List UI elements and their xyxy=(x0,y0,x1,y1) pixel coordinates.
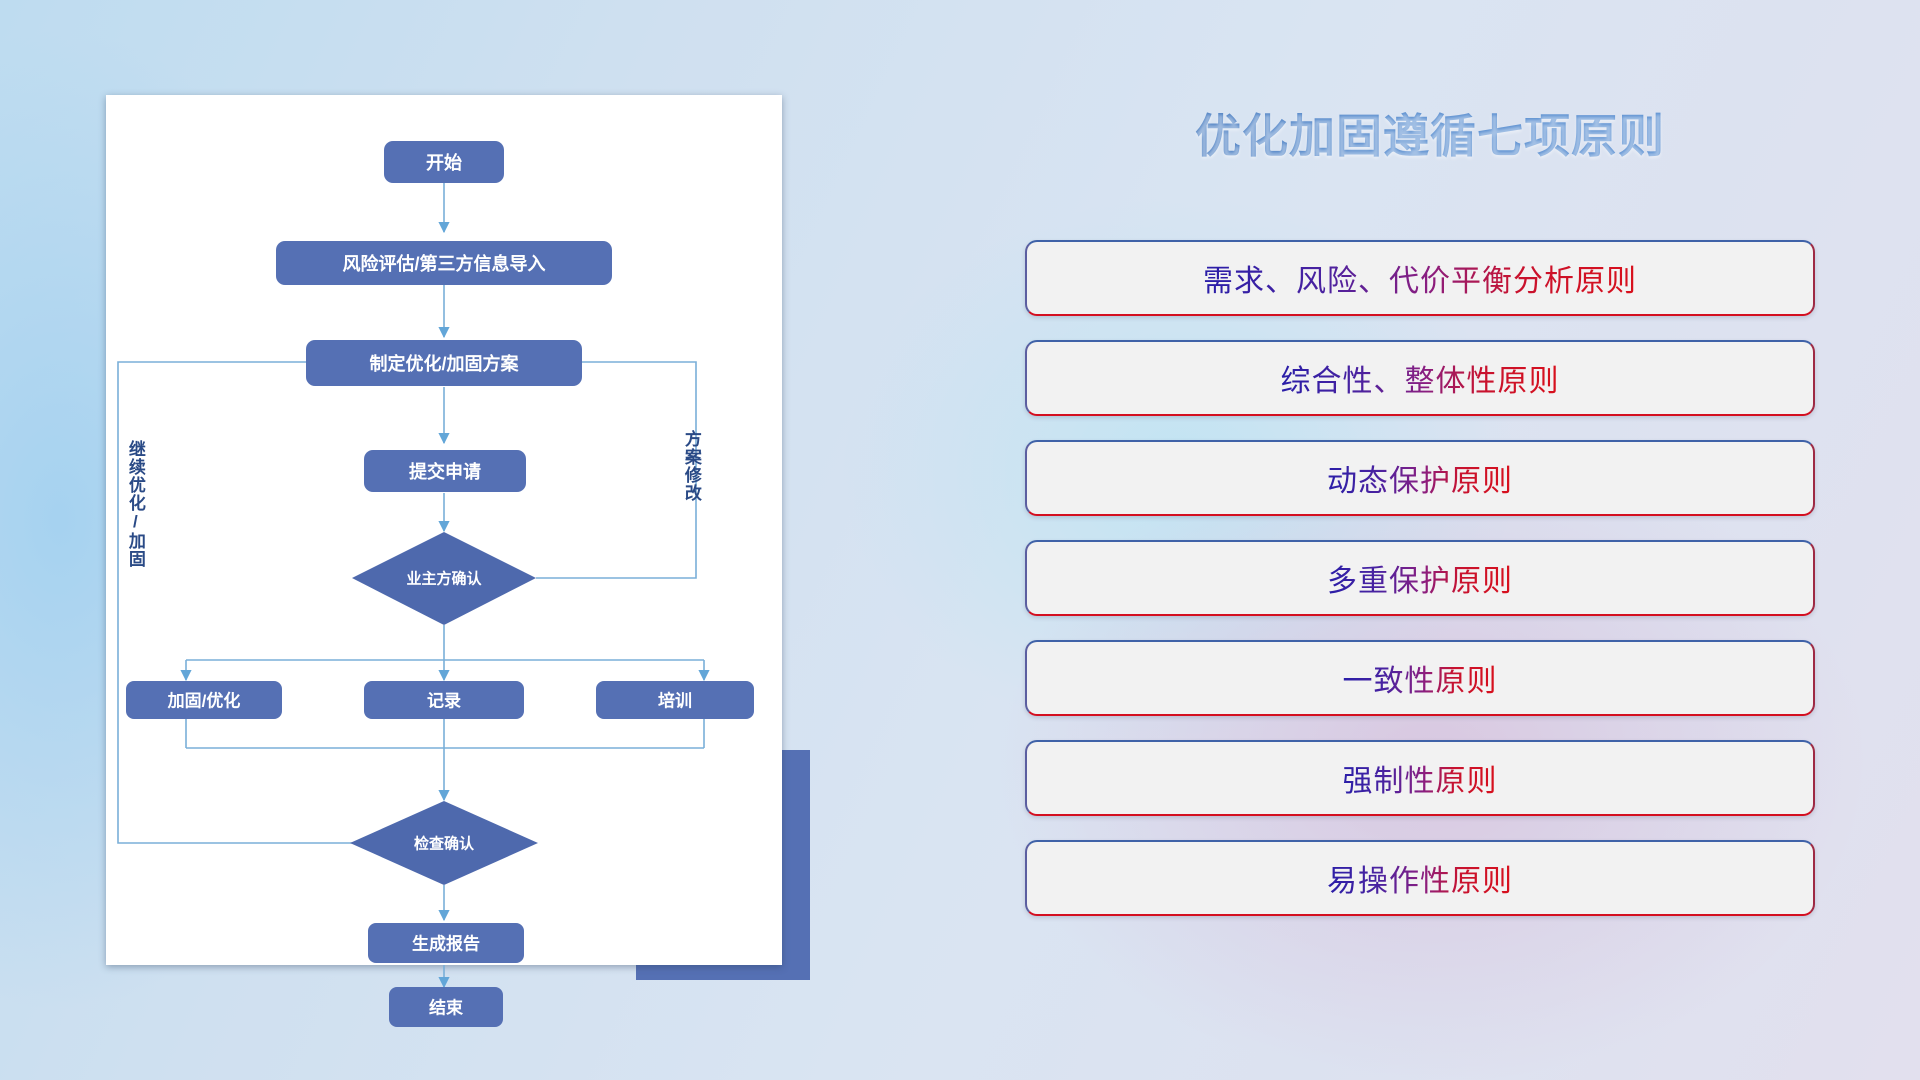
principle-item[interactable]: 易操作性原则 xyxy=(1025,840,1815,916)
edge-label-plan-revision: 方案修改 xyxy=(682,430,700,502)
flow-node-training[interactable]: 培训 xyxy=(596,681,754,719)
flowchart-card: 开始 风险评估/第三方信息导入 制定优化/加固方案 提交申请 业主方确认 xyxy=(106,95,782,965)
principle-label: 需求、风险、代价平衡分析原则 xyxy=(1203,256,1637,300)
flow-node-end[interactable]: 结束 xyxy=(389,987,503,1027)
flow-node-risk-assessment[interactable]: 风险评估/第三方信息导入 xyxy=(276,241,612,285)
svg-text:培训: 培训 xyxy=(658,691,692,711)
svg-text:结束: 结束 xyxy=(429,998,463,1018)
svg-text:加固/优化: 加固/优化 xyxy=(167,691,241,711)
principle-item[interactable]: 强制性原则 xyxy=(1025,740,1815,816)
svg-text:检查确认: 检查确认 xyxy=(414,835,475,853)
principle-label: 动态保护原则 xyxy=(1327,456,1513,500)
svg-text:记录: 记录 xyxy=(427,692,461,711)
flowchart-diagram: 开始 风险评估/第三方信息导入 制定优化/加固方案 提交申请 业主方确认 xyxy=(106,95,782,965)
svg-text:开始: 开始 xyxy=(426,152,462,173)
flowchart-diagram-end: 结束 xyxy=(106,923,782,1043)
flow-node-plan[interactable]: 制定优化/加固方案 xyxy=(306,340,582,386)
svg-text:提交申请: 提交申请 xyxy=(409,461,481,482)
slide-canvas: 开始 风险评估/第三方信息导入 制定优化/加固方案 提交申请 业主方确认 xyxy=(0,0,1920,1080)
principle-label: 多重保护原则 xyxy=(1327,556,1513,600)
principle-item[interactable]: 综合性、整体性原则 xyxy=(1025,340,1815,416)
principles-list: 需求、风险、代价平衡分析原则 综合性、整体性原则 动态保护原则 多重保护原则 一… xyxy=(1025,240,1815,940)
svg-text:制定优化/加固方案: 制定优化/加固方案 xyxy=(369,353,519,374)
edge-label-continue-optimize: 继续优化/加固 xyxy=(126,440,144,568)
panel-title: 优化加固遵循七项原则 xyxy=(1020,100,1840,166)
flow-node-check-confirm[interactable]: 检查确认 xyxy=(350,801,538,885)
flow-node-record[interactable]: 记录 xyxy=(364,681,524,719)
flow-node-reinforce[interactable]: 加固/优化 xyxy=(126,681,282,719)
flow-node-owner-confirm[interactable]: 业主方确认 xyxy=(352,532,536,625)
flow-node-start[interactable]: 开始 xyxy=(384,141,504,183)
principle-label: 一致性原则 xyxy=(1343,656,1498,700)
principle-label: 易操作性原则 xyxy=(1327,856,1513,900)
principle-item[interactable]: 多重保护原则 xyxy=(1025,540,1815,616)
principle-label: 综合性、整体性原则 xyxy=(1281,356,1560,400)
principle-item[interactable]: 需求、风险、代价平衡分析原则 xyxy=(1025,240,1815,316)
flow-node-submit[interactable]: 提交申请 xyxy=(364,450,526,492)
principle-label: 强制性原则 xyxy=(1343,756,1498,800)
principles-panel: 优化加固遵循七项原则 需求、风险、代价平衡分析原则 综合性、整体性原则 动态保护… xyxy=(1020,100,1840,1010)
principle-item[interactable]: 动态保护原则 xyxy=(1025,440,1815,516)
svg-text:业主方确认: 业主方确认 xyxy=(406,570,482,588)
principle-item[interactable]: 一致性原则 xyxy=(1025,640,1815,716)
svg-text:风险评估/第三方信息导入: 风险评估/第三方信息导入 xyxy=(343,253,546,274)
